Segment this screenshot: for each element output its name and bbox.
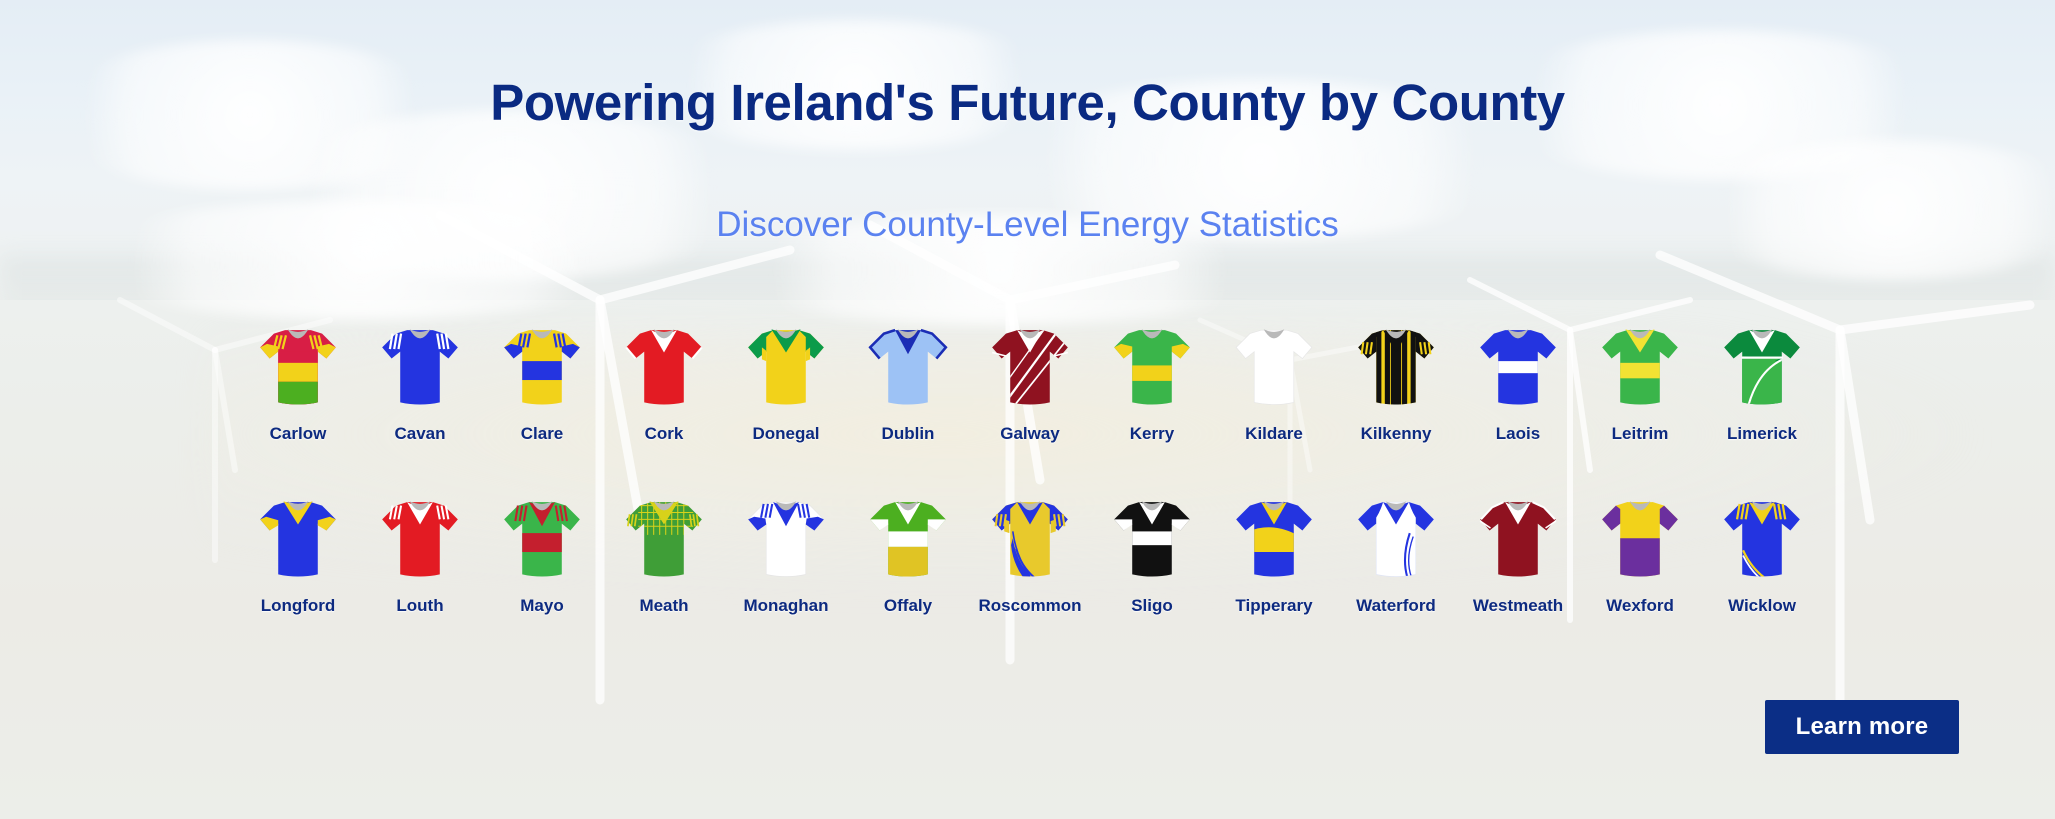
county-label: Kildare <box>1245 424 1303 444</box>
county-label: Limerick <box>1727 424 1797 444</box>
county-label: Wexford <box>1606 596 1674 616</box>
jersey-roscommon-icon <box>987 490 1073 590</box>
jersey-kerry-icon <box>1109 318 1195 418</box>
county-label: Monaghan <box>744 596 829 616</box>
learn-more-button[interactable]: Learn more <box>1765 700 1959 754</box>
county-card-meath[interactable]: Meath <box>621 490 707 616</box>
jersey-longford-icon <box>255 490 341 590</box>
jersey-donegal-icon <box>743 318 829 418</box>
county-label: Kilkenny <box>1361 424 1432 444</box>
jersey-limerick-icon <box>1719 318 1805 418</box>
county-card-sligo[interactable]: Sligo <box>1109 490 1195 616</box>
county-card-carlow[interactable]: Carlow <box>255 318 341 444</box>
county-card-galway[interactable]: Galway <box>987 318 1073 444</box>
county-label: Donegal <box>752 424 819 444</box>
county-card-limerick[interactable]: Limerick <box>1719 318 1805 444</box>
county-label: Wicklow <box>1728 596 1796 616</box>
page-subtitle: Discover County-Level Energy Statistics <box>0 205 2055 245</box>
county-label: Louth <box>396 596 443 616</box>
county-label: Sligo <box>1131 596 1173 616</box>
county-label: Cork <box>645 424 684 444</box>
jersey-sligo-icon <box>1109 490 1195 590</box>
jersey-cavan-icon <box>377 318 463 418</box>
jersey-waterford-icon <box>1353 490 1439 590</box>
county-label: Westmeath <box>1473 596 1563 616</box>
county-label: Offaly <box>884 596 932 616</box>
county-label: Clare <box>521 424 564 444</box>
county-card-wexford[interactable]: Wexford <box>1597 490 1683 616</box>
county-card-cork[interactable]: Cork <box>621 318 707 444</box>
county-card-roscommon[interactable]: Roscommon <box>987 490 1073 616</box>
county-card-dublin[interactable]: Dublin <box>865 318 951 444</box>
jersey-westmeath-icon <box>1475 490 1561 590</box>
jersey-dublin-icon <box>865 318 951 418</box>
county-card-kildare[interactable]: Kildare <box>1231 318 1317 444</box>
jersey-tipperary-icon <box>1231 490 1317 590</box>
county-label: Mayo <box>520 596 563 616</box>
county-jersey-row-2: Longford Louth Mayo <box>255 490 1805 616</box>
jersey-cork-icon <box>621 318 707 418</box>
county-label: Meath <box>639 596 688 616</box>
county-card-waterford[interactable]: Waterford <box>1353 490 1439 616</box>
jersey-kildare-icon <box>1231 318 1317 418</box>
jersey-leitrim-icon <box>1597 318 1683 418</box>
county-label: Tipperary <box>1235 596 1312 616</box>
county-label: Dublin <box>882 424 935 444</box>
jersey-offaly-icon <box>865 490 951 590</box>
county-label: Laois <box>1496 424 1540 444</box>
county-card-clare[interactable]: Clare <box>499 318 585 444</box>
jersey-monaghan-icon <box>743 490 829 590</box>
county-card-leitrim[interactable]: Leitrim <box>1597 318 1683 444</box>
jersey-clare-icon <box>499 318 585 418</box>
jersey-wicklow-icon <box>1719 490 1805 590</box>
county-card-cavan[interactable]: Cavan <box>377 318 463 444</box>
county-label: Carlow <box>270 424 327 444</box>
jersey-carlow-icon <box>255 318 341 418</box>
county-card-monaghan[interactable]: Monaghan <box>743 490 829 616</box>
county-label: Waterford <box>1356 596 1436 616</box>
page-title: Powering Ireland's Future, County by Cou… <box>0 73 2055 132</box>
jersey-galway-icon <box>987 318 1073 418</box>
jersey-mayo-icon <box>499 490 585 590</box>
county-card-kilkenny[interactable]: Kilkenny <box>1353 318 1439 444</box>
county-label: Longford <box>261 596 336 616</box>
county-label: Kerry <box>1130 424 1174 444</box>
county-card-longford[interactable]: Longford <box>255 490 341 616</box>
county-label: Roscommon <box>979 596 1082 616</box>
county-jersey-row-1: Carlow Cavan Clare <box>255 318 1805 444</box>
county-card-kerry[interactable]: Kerry <box>1109 318 1195 444</box>
jersey-kilkenny-icon <box>1353 318 1439 418</box>
county-card-wicklow[interactable]: Wicklow <box>1719 490 1805 616</box>
jersey-laois-icon <box>1475 318 1561 418</box>
county-card-mayo[interactable]: Mayo <box>499 490 585 616</box>
county-label: Leitrim <box>1612 424 1669 444</box>
jersey-meath-icon <box>621 490 707 590</box>
county-card-donegal[interactable]: Donegal <box>743 318 829 444</box>
county-card-westmeath[interactable]: Westmeath <box>1475 490 1561 616</box>
county-card-offaly[interactable]: Offaly <box>865 490 951 616</box>
county-card-louth[interactable]: Louth <box>377 490 463 616</box>
county-label: Cavan <box>394 424 445 444</box>
county-label: Galway <box>1000 424 1060 444</box>
jersey-louth-icon <box>377 490 463 590</box>
jersey-wexford-icon <box>1597 490 1683 590</box>
county-card-tipperary[interactable]: Tipperary <box>1231 490 1317 616</box>
county-card-laois[interactable]: Laois <box>1475 318 1561 444</box>
